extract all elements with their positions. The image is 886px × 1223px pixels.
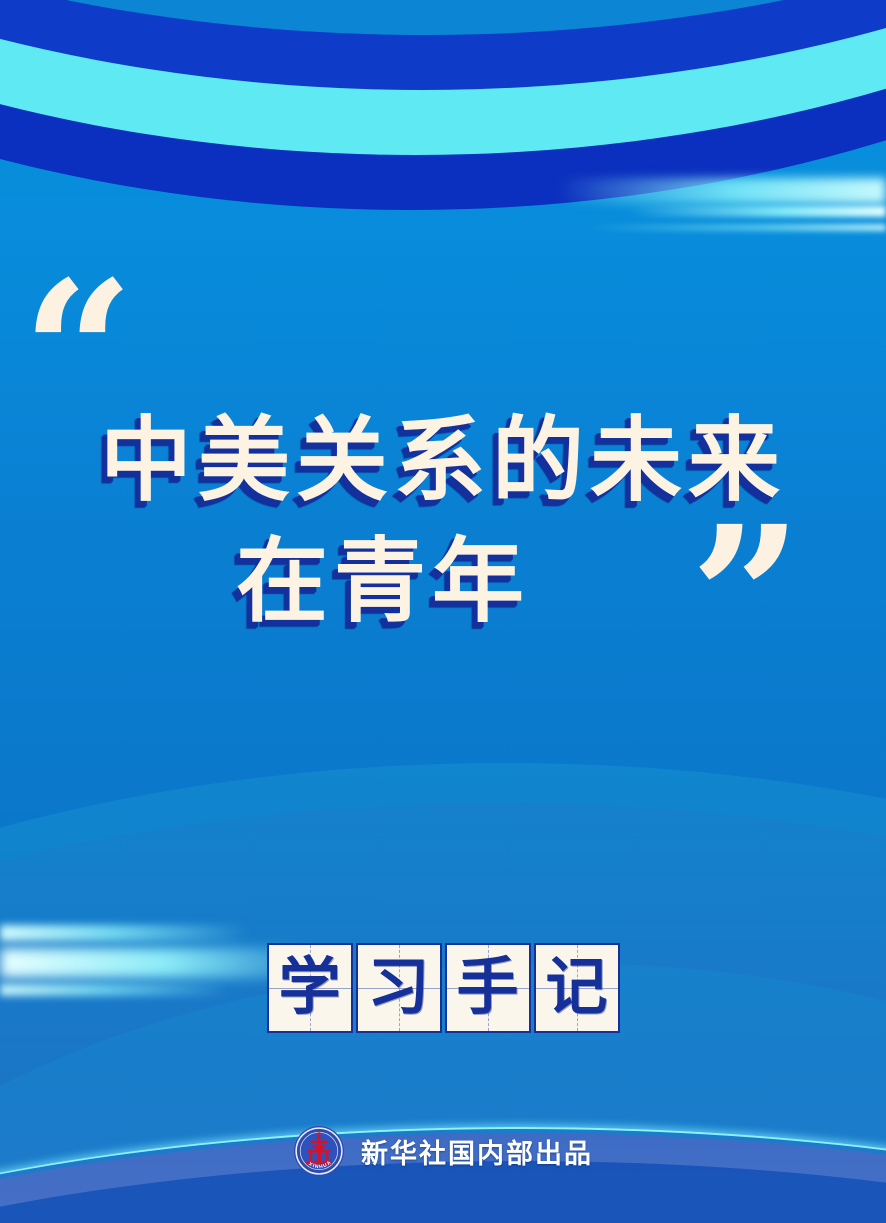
tag-character: 记 — [536, 945, 618, 1031]
footer-attribution-text: 新华社国内部出品 — [361, 1132, 593, 1171]
xinhua-logo-icon: XINHUA — [293, 1125, 345, 1177]
closing-quote-mark: ” — [690, 500, 802, 695]
tag-gridbox: 学 — [267, 943, 353, 1033]
tag-gridbox: 记 — [534, 943, 620, 1033]
tag-gridbox: 习 — [356, 943, 442, 1033]
tag-gridbox: 手 — [445, 943, 531, 1033]
tag-character: 习 — [358, 945, 440, 1031]
footer: XINHUA 新华社国内部出品 — [0, 1125, 886, 1177]
tag-character: 手 — [447, 945, 529, 1031]
tag-character: 学 — [269, 945, 351, 1031]
series-tag-grid: 学 习 手 记 — [0, 943, 886, 1033]
poster-canvas: “ 中美关系的未来 在青年 ” 学 习 — [0, 0, 886, 1223]
